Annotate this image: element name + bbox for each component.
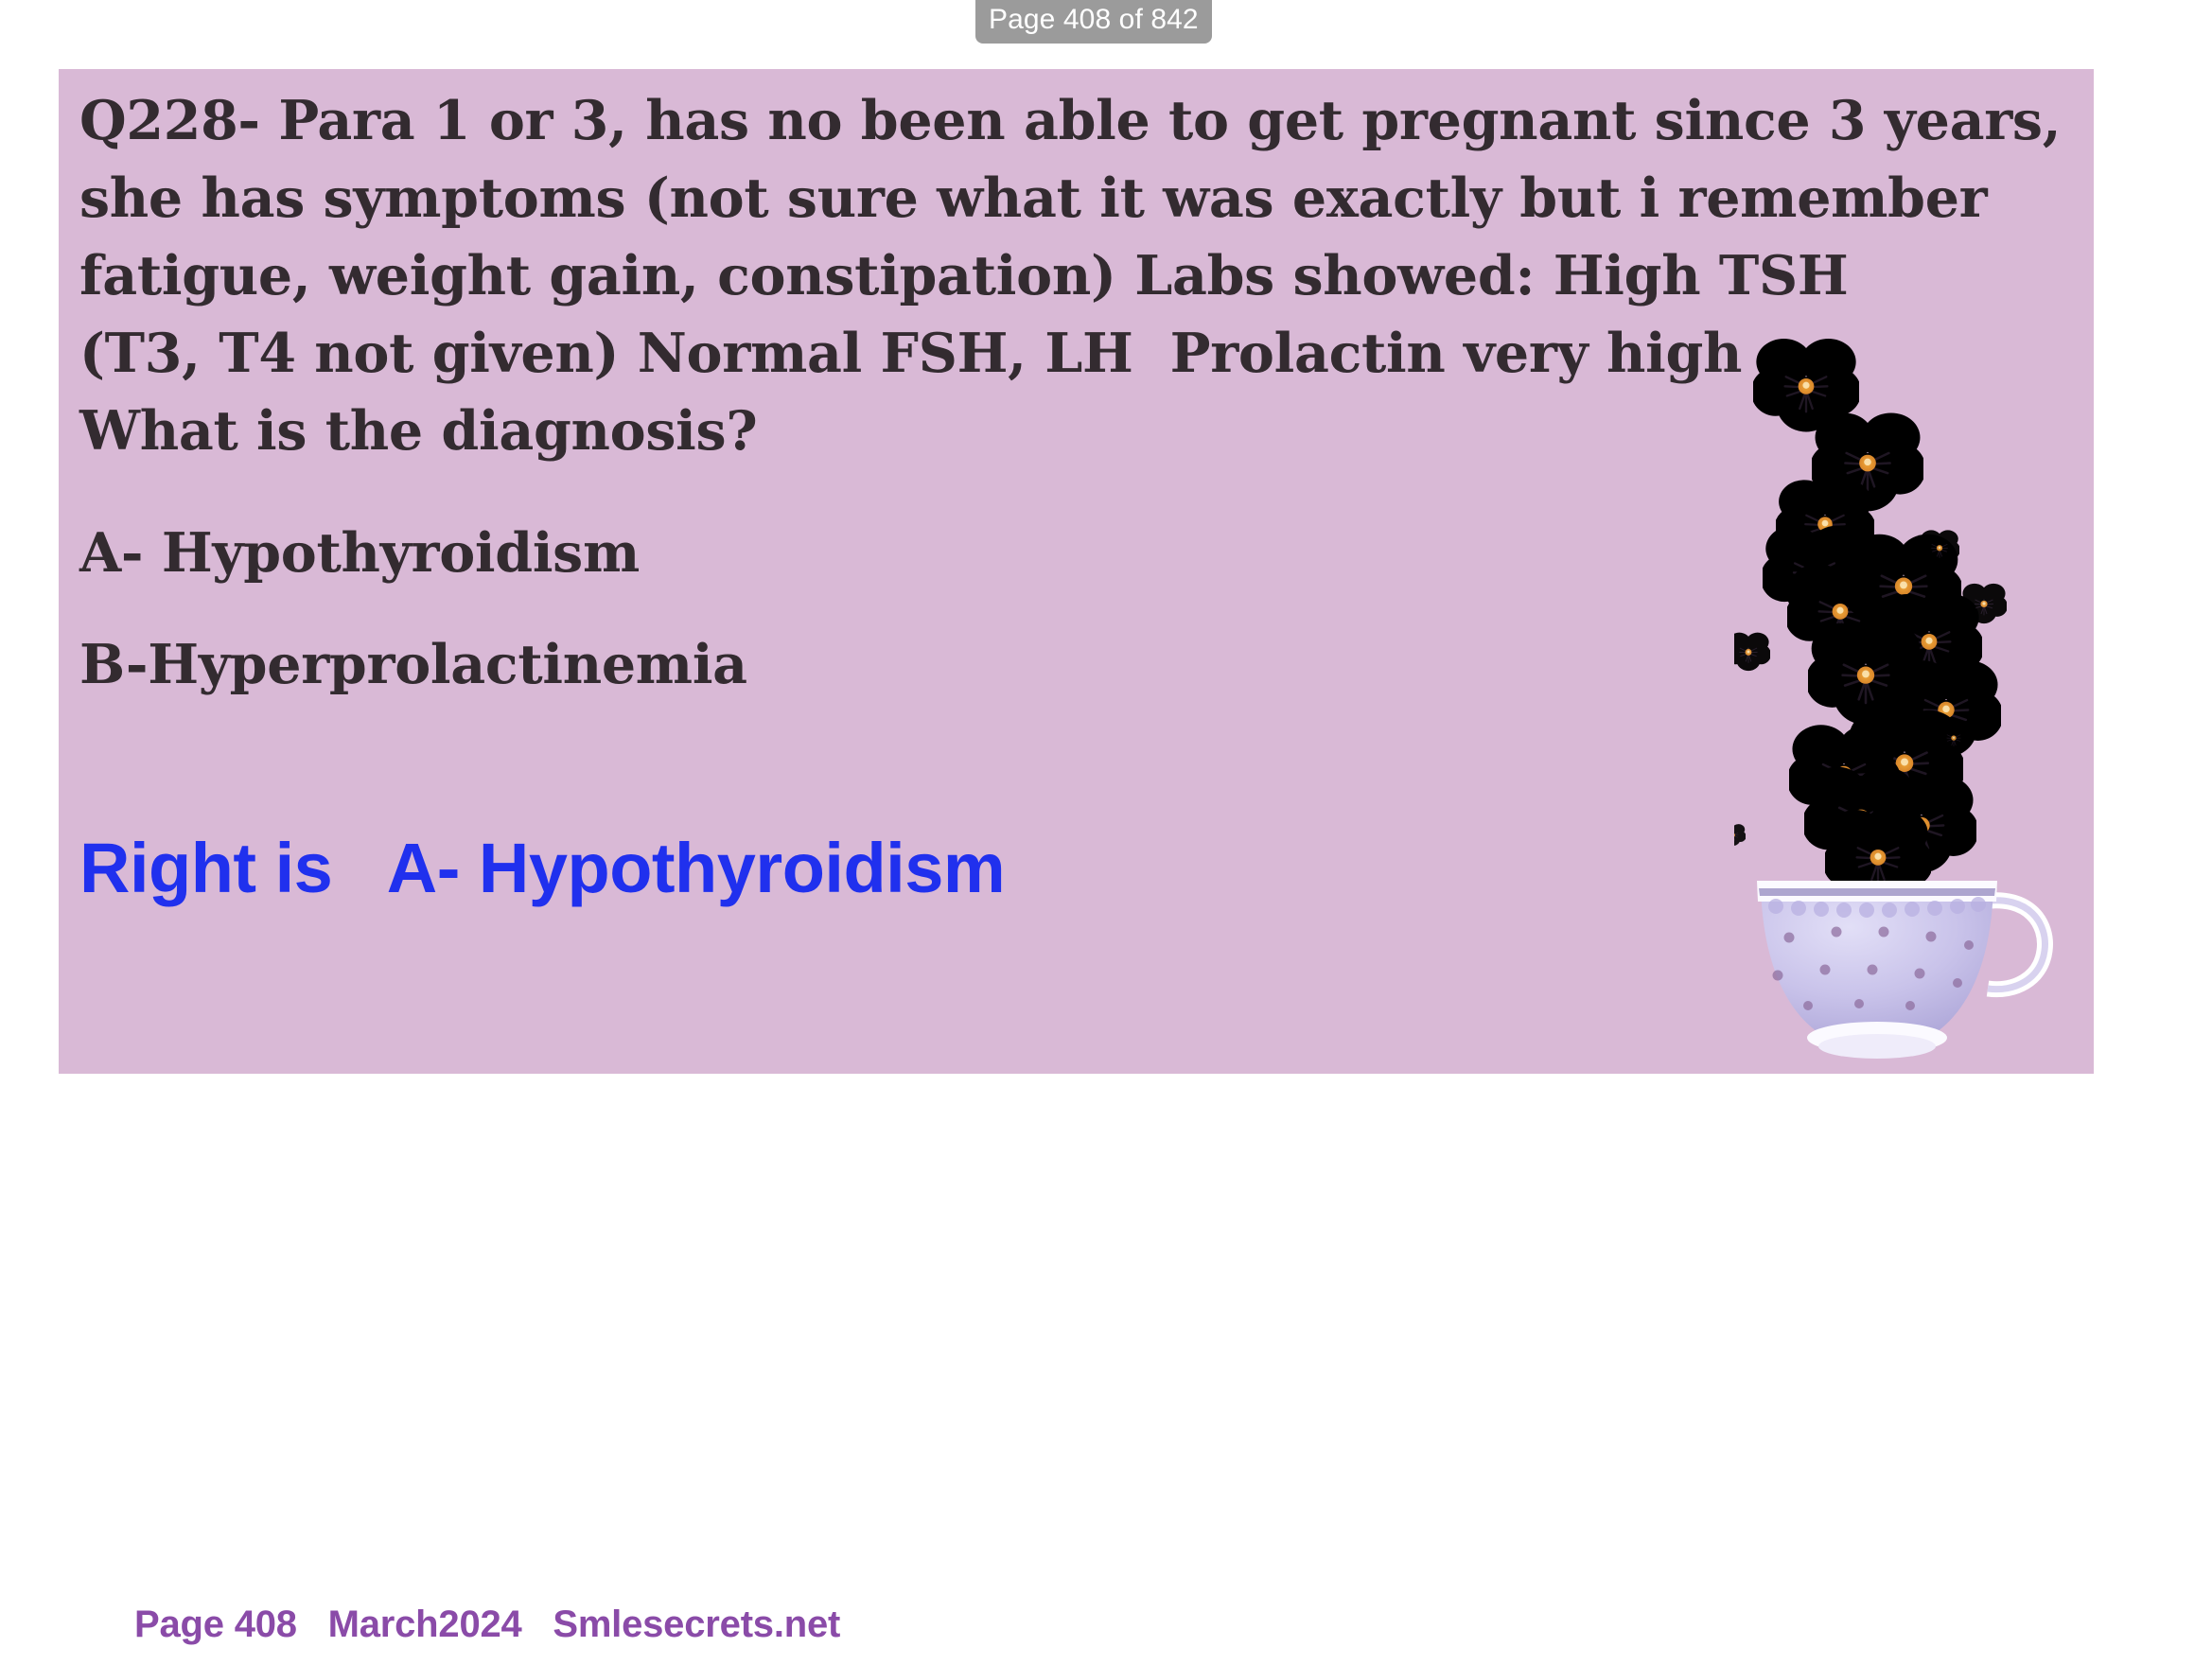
option-b[interactable]: B-Hyperprolactinemia [79, 631, 1953, 699]
page-indicator: Page 408 of 842 [975, 0, 1212, 44]
slide-canvas: .wht .pUp, .wht .pSide, .wht .pLow { fil… [59, 69, 2094, 1074]
slide-text-block: Q228- Para 1 or 3, has no been able to g… [79, 82, 1953, 909]
slide-footer: Page 408 March2024 Smlesecrets.net [134, 1603, 840, 1646]
correct-answer-text: Right is A- Hypothyroidism [79, 828, 1953, 909]
question-line: (T3, T4 not given) Normal FSH, LH Prolac… [79, 315, 1953, 393]
spacer [79, 699, 1953, 828]
question-line: she has symptoms (not sure what it was e… [79, 160, 1953, 237]
question-line: What is the diagnosis? [79, 393, 1953, 470]
spacer [79, 587, 1953, 631]
option-a[interactable]: A- Hypothyroidism [79, 519, 1953, 587]
question-line: fatigue, weight gain, constipation) Labs… [79, 237, 1953, 315]
spacer [79, 470, 1953, 519]
question-line: Q228- Para 1 or 3, has no been able to g… [79, 82, 1953, 160]
